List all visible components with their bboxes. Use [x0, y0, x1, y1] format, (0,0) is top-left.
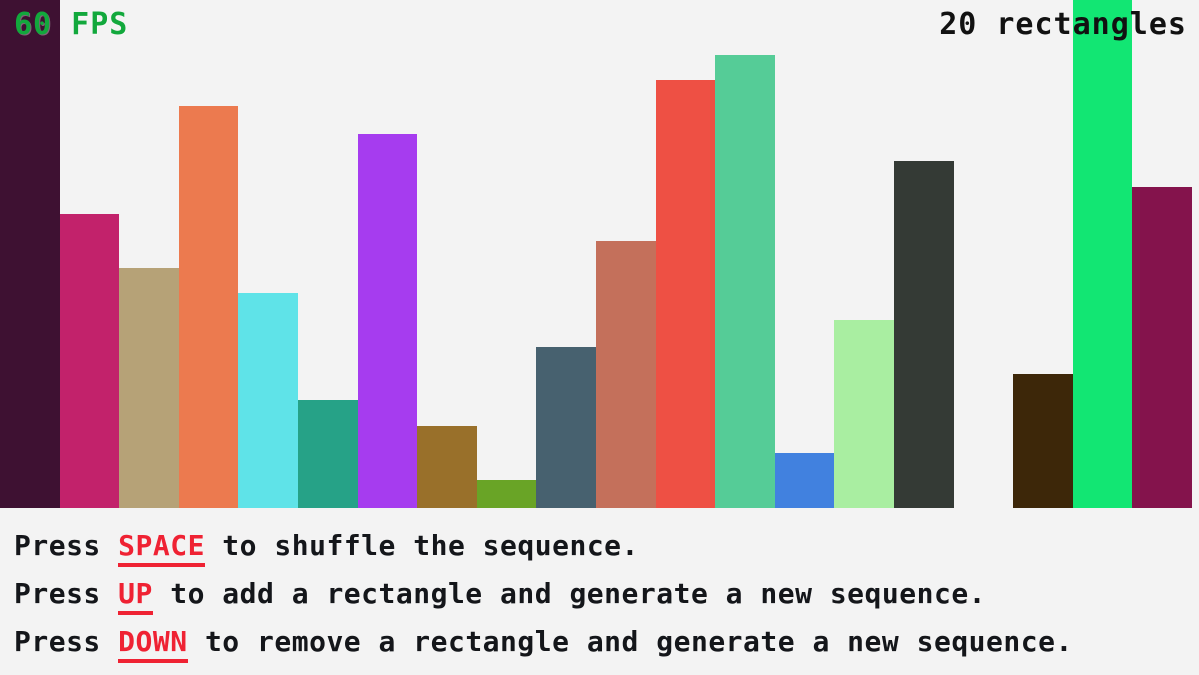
bar-slot [60, 0, 120, 508]
rectangle-sequence-app: 60 FPS 20 rectangles Press SPACE to shuf… [0, 0, 1199, 675]
chart-bar [238, 293, 298, 508]
bar-chart-canvas [0, 0, 1199, 508]
chart-bar [179, 106, 239, 508]
chart-bar [536, 347, 596, 508]
chart-bar [358, 134, 418, 508]
instruction-line-remove: Press DOWN to remove a rectangle and gen… [14, 618, 1199, 666]
instruction-suffix: to add a rectangle and generate a new se… [153, 577, 986, 610]
bar-slot [1132, 0, 1192, 508]
chart-bar [834, 320, 894, 508]
chart-bar [1013, 374, 1073, 508]
chart-bar [60, 214, 120, 508]
bar-slot [834, 0, 894, 508]
chart-bar [656, 80, 716, 508]
bar-slot [238, 0, 298, 508]
bar-slot [119, 0, 179, 508]
chart-bar [417, 426, 477, 508]
chart-bar [1132, 187, 1192, 508]
bar-slot [775, 0, 835, 508]
bar-slot [1013, 0, 1073, 508]
chart-bar [1073, 0, 1133, 508]
bar-slot [417, 0, 477, 508]
instruction-line-add: Press UP to add a rectangle and generate… [14, 570, 1199, 618]
instruction-prefix: Press [14, 625, 118, 658]
instruction-prefix: Press [14, 529, 118, 562]
chart-bar [894, 161, 954, 508]
bar-slot [715, 0, 775, 508]
instruction-suffix: to remove a rectangle and generate a new… [188, 625, 1073, 658]
bar-slot [954, 0, 1014, 508]
chart-bar [477, 480, 537, 508]
chart-bar [715, 55, 775, 508]
chart-bar [119, 268, 179, 508]
key-up[interactable]: UP [118, 577, 153, 615]
bar-slot [656, 0, 716, 508]
bar-slot [358, 0, 418, 508]
bar-slot [1073, 0, 1133, 508]
bar-slot [536, 0, 596, 508]
key-down[interactable]: DOWN [118, 625, 187, 663]
bar-slot [0, 0, 60, 508]
instruction-suffix: to shuffle the sequence. [205, 529, 639, 562]
bar-slot [179, 0, 239, 508]
instruction-line-shuffle: Press SPACE to shuffle the sequence. [14, 522, 1199, 570]
instruction-prefix: Press [14, 577, 118, 610]
chart-bar [0, 0, 60, 508]
bar-slot [894, 0, 954, 508]
chart-bar [775, 453, 835, 508]
bar-slot [596, 0, 656, 508]
bar-slot [477, 0, 537, 508]
chart-bar [596, 241, 656, 508]
instructions-panel: Press SPACE to shuffle the sequence. Pre… [0, 508, 1199, 675]
bar-slot [298, 0, 358, 508]
key-space[interactable]: SPACE [118, 529, 205, 567]
chart-bar [298, 400, 358, 508]
